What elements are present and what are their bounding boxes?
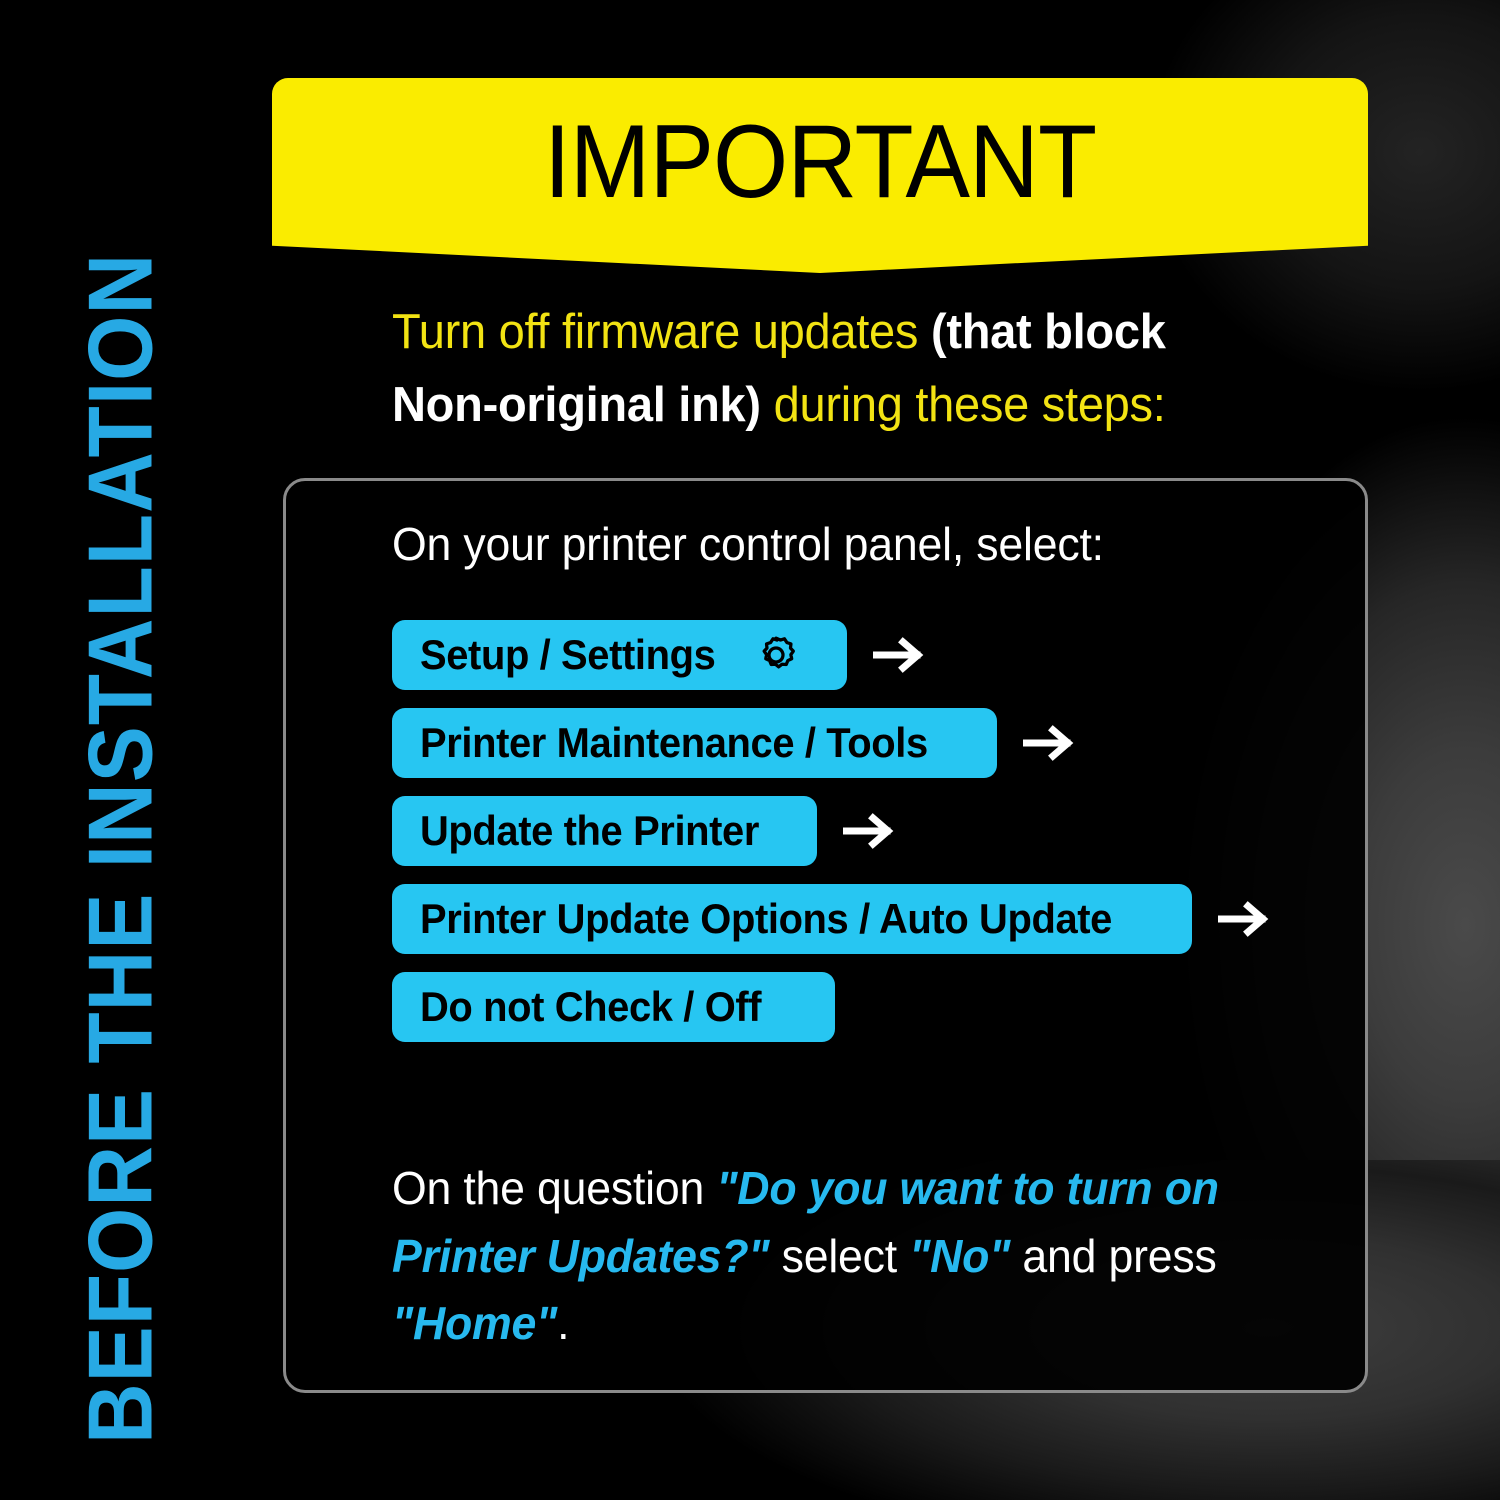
- gear-icon: [753, 632, 799, 678]
- closing-paragraph: On the question "Do you want to turn on …: [392, 1155, 1246, 1358]
- closing-seg-5: and press: [1010, 1230, 1216, 1282]
- step-label: Printer Maintenance / Tools: [420, 722, 928, 764]
- headline-part-1: Turn off firmware updates: [392, 305, 931, 359]
- closing-seg-4-no: "No": [909, 1230, 1010, 1282]
- closing-seg-6-home: "Home": [392, 1297, 557, 1349]
- infographic-page: BEFORE THE INSTALLATION IMPORTANT Turn o…: [0, 0, 1500, 1500]
- step-row: Printer Update Options / Auto Update: [392, 884, 1280, 954]
- step-label: Update the Printer: [420, 810, 759, 852]
- closing-seg-1: On the question: [392, 1162, 716, 1214]
- step-pill-do-not-check-off[interactable]: Do not Check / Off: [392, 972, 835, 1042]
- closing-seg-7: .: [557, 1297, 569, 1349]
- vertical-side-title-label: BEFORE THE INSTALLATION: [75, 253, 166, 1500]
- arrow-right-icon: [1218, 899, 1280, 939]
- arrow-right-icon: [1023, 723, 1085, 763]
- panel-intro-text: On your printer control panel, select:: [392, 517, 1104, 571]
- headline-part-3: during these steps:: [761, 378, 1166, 432]
- step-label: Setup / Settings: [420, 634, 715, 676]
- step-row: Printer Maintenance / Tools: [392, 708, 1280, 778]
- step-row: Setup / Settings: [392, 620, 1280, 690]
- important-banner-label: IMPORTANT: [310, 78, 1329, 246]
- step-pill-printer-update-options-auto-update[interactable]: Printer Update Options / Auto Update: [392, 884, 1192, 954]
- headline: Turn off firmware updates (that block No…: [392, 296, 1189, 441]
- step-pill-update-the-printer[interactable]: Update the Printer: [392, 796, 817, 866]
- step-pill-printer-maintenance-tools[interactable]: Printer Maintenance / Tools: [392, 708, 997, 778]
- arrow-right-icon: [843, 811, 905, 851]
- step-row: Do not Check / Off: [392, 972, 1280, 1042]
- step-pill-setup-settings[interactable]: Setup / Settings: [392, 620, 847, 690]
- step-row: Update the Printer: [392, 796, 1280, 866]
- step-label: Do not Check / Off: [420, 986, 761, 1028]
- vertical-side-title: BEFORE THE INSTALLATION: [0, 0, 240, 1500]
- step-label: Printer Update Options / Auto Update: [420, 898, 1112, 940]
- steps-list: Setup / Settings: [392, 620, 1280, 1060]
- arrow-right-icon: [873, 635, 935, 675]
- closing-seg-3: select: [769, 1230, 909, 1282]
